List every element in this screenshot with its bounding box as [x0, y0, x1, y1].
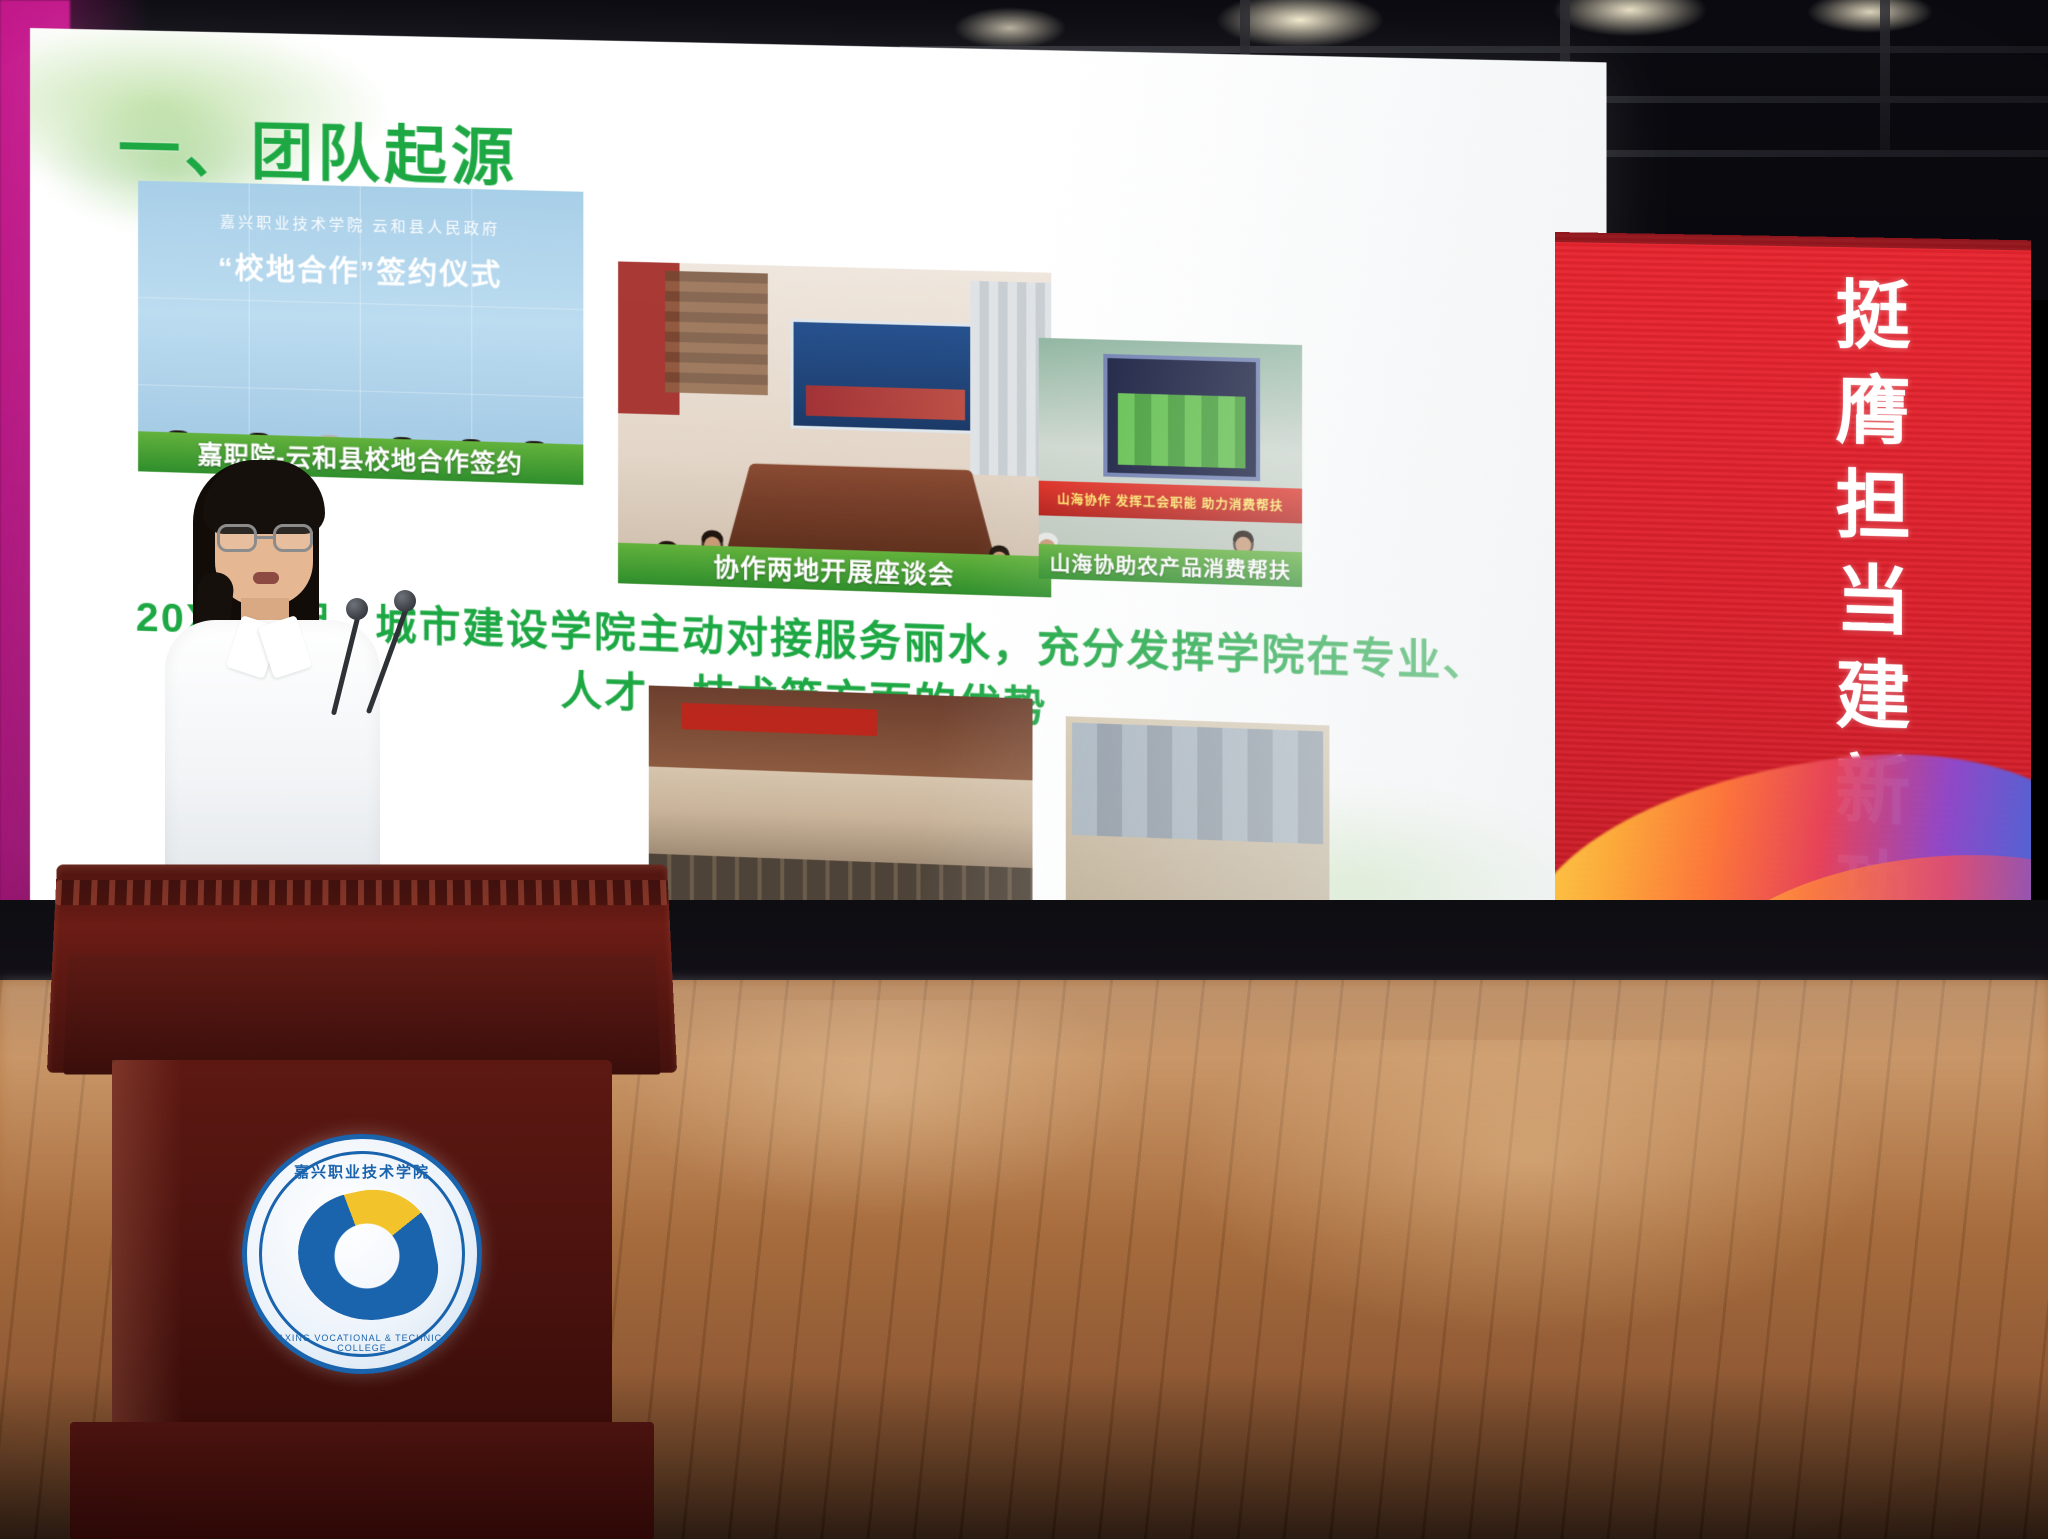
microphone-right — [352, 590, 472, 720]
stage-scene: 一、团队起源 嘉兴职业技术学院 云和县人民政府 “校地合作”签约仪式 嘉职院-云… — [0, 0, 2048, 1539]
photo-caption: 山海协助农产品消费帮扶 — [1039, 544, 1302, 587]
podium-base — [70, 1422, 654, 1539]
stage-red-banner-panel: 挺膺担当建新功 — [1555, 232, 2031, 992]
mouth — [253, 572, 279, 584]
podium-carving — [55, 880, 669, 905]
college-emblem: 嘉兴职业技术学院 JIAXING VOCATIONAL & TECHNICAL … — [242, 1134, 482, 1374]
emblem-english-name: JIAXING VOCATIONAL & TECHNICAL COLLEGE — [247, 1333, 477, 1353]
glasses-icon — [217, 524, 313, 552]
slide-photo-symposium: 协作两地开展座谈会 — [618, 261, 1051, 597]
slide-photo-signing-ceremony: 嘉兴职业技术学院 云和县人民政府 “校地合作”签约仪式 嘉职院-云和县校地合作签… — [138, 181, 583, 485]
speaking-podium: 嘉兴职业技术学院 JIAXING VOCATIONAL & TECHNICAL … — [52, 862, 672, 1539]
photo-people — [138, 301, 583, 445]
emblem-chinese-name: 嘉兴职业技术学院 — [247, 1161, 477, 1182]
slide-photo-field-visit — [649, 685, 1033, 925]
podium-top — [47, 865, 677, 1073]
slide-photo-group-display — [1066, 716, 1330, 930]
podium-front-panel — [63, 954, 661, 1075]
slide-photo-agriculture-aid: 山海协作 发挥工会职能 助力消费帮扶 山海协助农产品消费帮扶 — [1039, 338, 1302, 587]
truss-post — [1880, 0, 1890, 150]
floor-light-pool — [1180, 1040, 1880, 1340]
floor-light-pool — [620, 1000, 1140, 1220]
